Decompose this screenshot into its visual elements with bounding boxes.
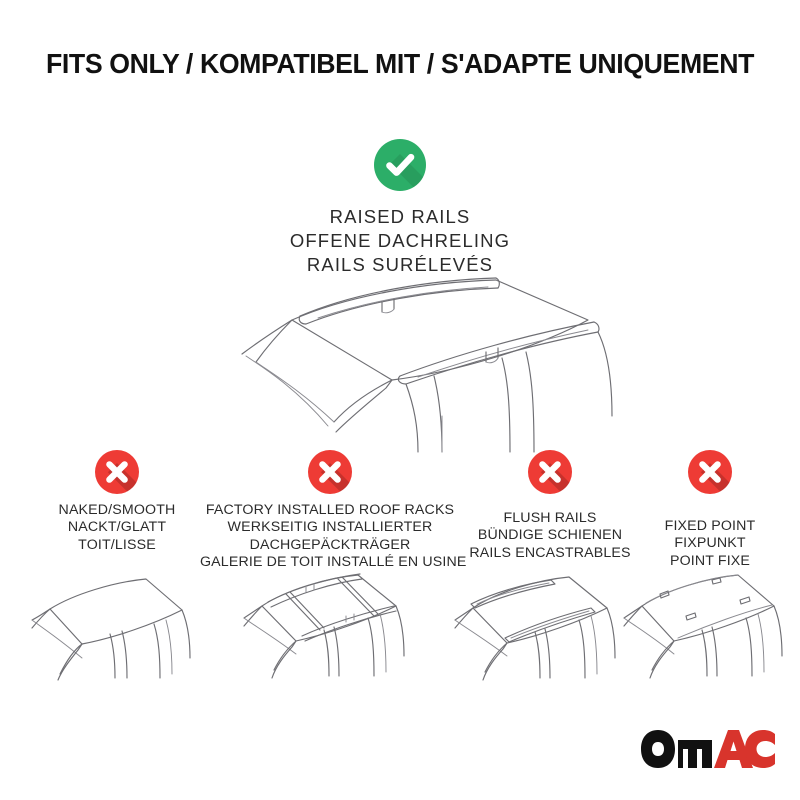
cross-circle-icon bbox=[528, 450, 572, 494]
item-labels: FLUSH RAILS BÜNDIGE SCHIENEN RAILS ENCAS… bbox=[455, 510, 645, 562]
item-label-de: BÜNDIGE SCHIENEN bbox=[455, 527, 645, 544]
cross-circle-icon bbox=[688, 450, 732, 494]
compatible-section: RAISED RAILS OFFENE DACHRELING RAILS SUR… bbox=[0, 139, 800, 277]
check-circle-icon bbox=[374, 139, 426, 191]
omac-logo bbox=[638, 728, 778, 770]
compatible-label-fr: RAILS SURÉLEVÉS bbox=[0, 253, 800, 277]
page-title: FITS ONLY / KOMPATIBEL MIT / S'ADAPTE UN… bbox=[12, 48, 788, 80]
header: FITS ONLY / KOMPATIBEL MIT / S'ADAPTE UN… bbox=[0, 48, 800, 80]
cross-circle-icon bbox=[95, 450, 139, 494]
compatible-labels: RAISED RAILS OFFENE DACHRELING RAILS SUR… bbox=[0, 205, 800, 277]
incompatible-item-factory-roof-racks: FACTORY INSTALLED ROOF RACKS WERKSEITIG … bbox=[200, 450, 460, 571]
car-roof-with-raised-rails-illustration bbox=[196, 276, 616, 456]
incompatible-item-fixed-point: FIXED POINT FIXPUNKT POINT FIXE bbox=[630, 450, 790, 570]
compatible-label-en: RAISED RAILS bbox=[0, 205, 800, 229]
item-label-en: FIXED POINT bbox=[630, 518, 790, 535]
item-label-en: FLUSH RAILS bbox=[455, 510, 645, 527]
cross-circle-icon bbox=[308, 450, 352, 494]
car-roof-flush-rails-illustration bbox=[443, 560, 643, 684]
item-label-de-1: WERKSEITIG INSTALLIERTER bbox=[200, 519, 460, 536]
incompatible-item-flush-rails: FLUSH RAILS BÜNDIGE SCHIENEN RAILS ENCAS… bbox=[455, 450, 645, 562]
item-label-fr: TOIT/LISSE bbox=[22, 537, 212, 554]
item-label-de-2: DACHGEPÄCKTRÄGER bbox=[200, 537, 460, 554]
item-label-en: FACTORY INSTALLED ROOF RACKS bbox=[200, 502, 460, 519]
incompatible-item-naked-smooth: NAKED/SMOOTH NACKT/GLATT TOIT/LISSE bbox=[22, 450, 212, 554]
compatible-label-de: OFFENE DACHRELING bbox=[0, 229, 800, 253]
car-roof-with-crossbars-illustration bbox=[228, 556, 443, 682]
compatibility-infographic: FITS ONLY / KOMPATIBEL MIT / S'ADAPTE UN… bbox=[0, 0, 800, 800]
incompatible-row: NAKED/SMOOTH NACKT/GLATT TOIT/LISSE FACT… bbox=[0, 450, 800, 570]
item-labels: NAKED/SMOOTH NACKT/GLATT TOIT/LISSE bbox=[22, 502, 212, 554]
item-label-de: FIXPUNKT bbox=[630, 535, 790, 552]
car-roof-bare-illustration bbox=[14, 562, 219, 682]
item-label-de: NACKT/GLATT bbox=[22, 519, 212, 536]
car-roof-fixed-points-illustration bbox=[614, 560, 799, 684]
item-label-en: NAKED/SMOOTH bbox=[22, 502, 212, 519]
